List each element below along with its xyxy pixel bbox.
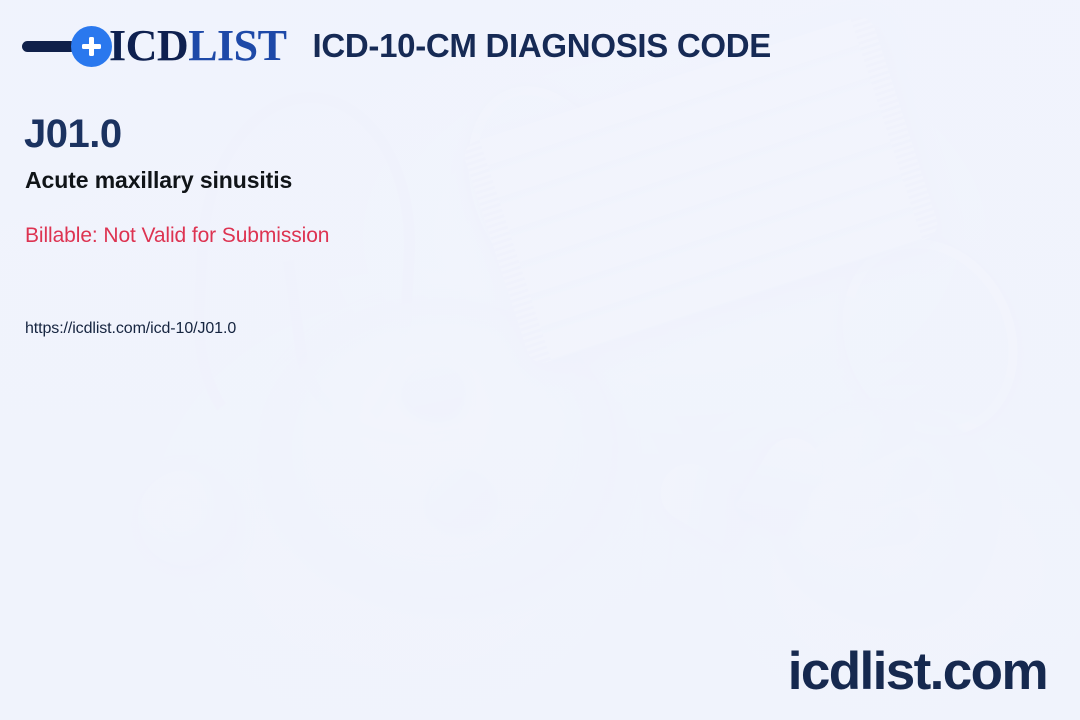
- paper-heart-icon: [677, 439, 820, 582]
- page-title: ICD-10-CM DIAGNOSIS CODE: [312, 27, 771, 65]
- diagnosis-code: J01.0: [24, 113, 122, 155]
- icdlist-logo[interactable]: ICDLIST: [22, 24, 286, 68]
- logo-word-list: LIST: [188, 21, 286, 70]
- background-photo: [0, 0, 1080, 720]
- stethoscope-chestpiece-icon: [138, 470, 234, 566]
- plus-circle-icon: [71, 26, 112, 67]
- stethoscope-tubing-icon: [187, 87, 423, 450]
- logo-word-icd: ICD: [109, 21, 188, 70]
- diagnosis-description: Acute maxillary sinusitis: [25, 167, 292, 194]
- finger-shape: [803, 451, 937, 529]
- finger-shape: [798, 504, 922, 558]
- dash-icon: [22, 41, 76, 52]
- stethoscope-earpiece-icon: [423, 464, 495, 530]
- source-url[interactable]: https://icdlist.com/icd-10/J01.0: [25, 320, 236, 338]
- round-tray: [268, 300, 618, 600]
- icd-code-card: ICDLIST ICD-10-CM DIAGNOSIS CODE J01.0 A…: [0, 0, 1080, 720]
- finger-shape: [788, 402, 922, 498]
- background-tint: [0, 0, 1080, 720]
- stethoscope-earpiece-icon: [399, 356, 470, 423]
- mask-edge-left: [461, 140, 552, 367]
- desk-surface: [60, 40, 1080, 720]
- site-watermark: icdlist.com: [788, 645, 1047, 698]
- background-gradient-overlay: [0, 0, 1080, 720]
- mask-edge-right: [851, 13, 942, 240]
- hand-shape: [770, 400, 1000, 630]
- mask-ear-loop-icon: [810, 209, 1050, 465]
- header: ICDLIST ICD-10-CM DIAGNOSIS CODE: [22, 24, 771, 68]
- billable-status: Billable: Not Valid for Submission: [25, 224, 329, 248]
- logo-wordmark: ICDLIST: [109, 24, 286, 68]
- stethoscope-tubing-lower-icon: [283, 240, 461, 460]
- mask-ear-loop-icon: [439, 62, 658, 320]
